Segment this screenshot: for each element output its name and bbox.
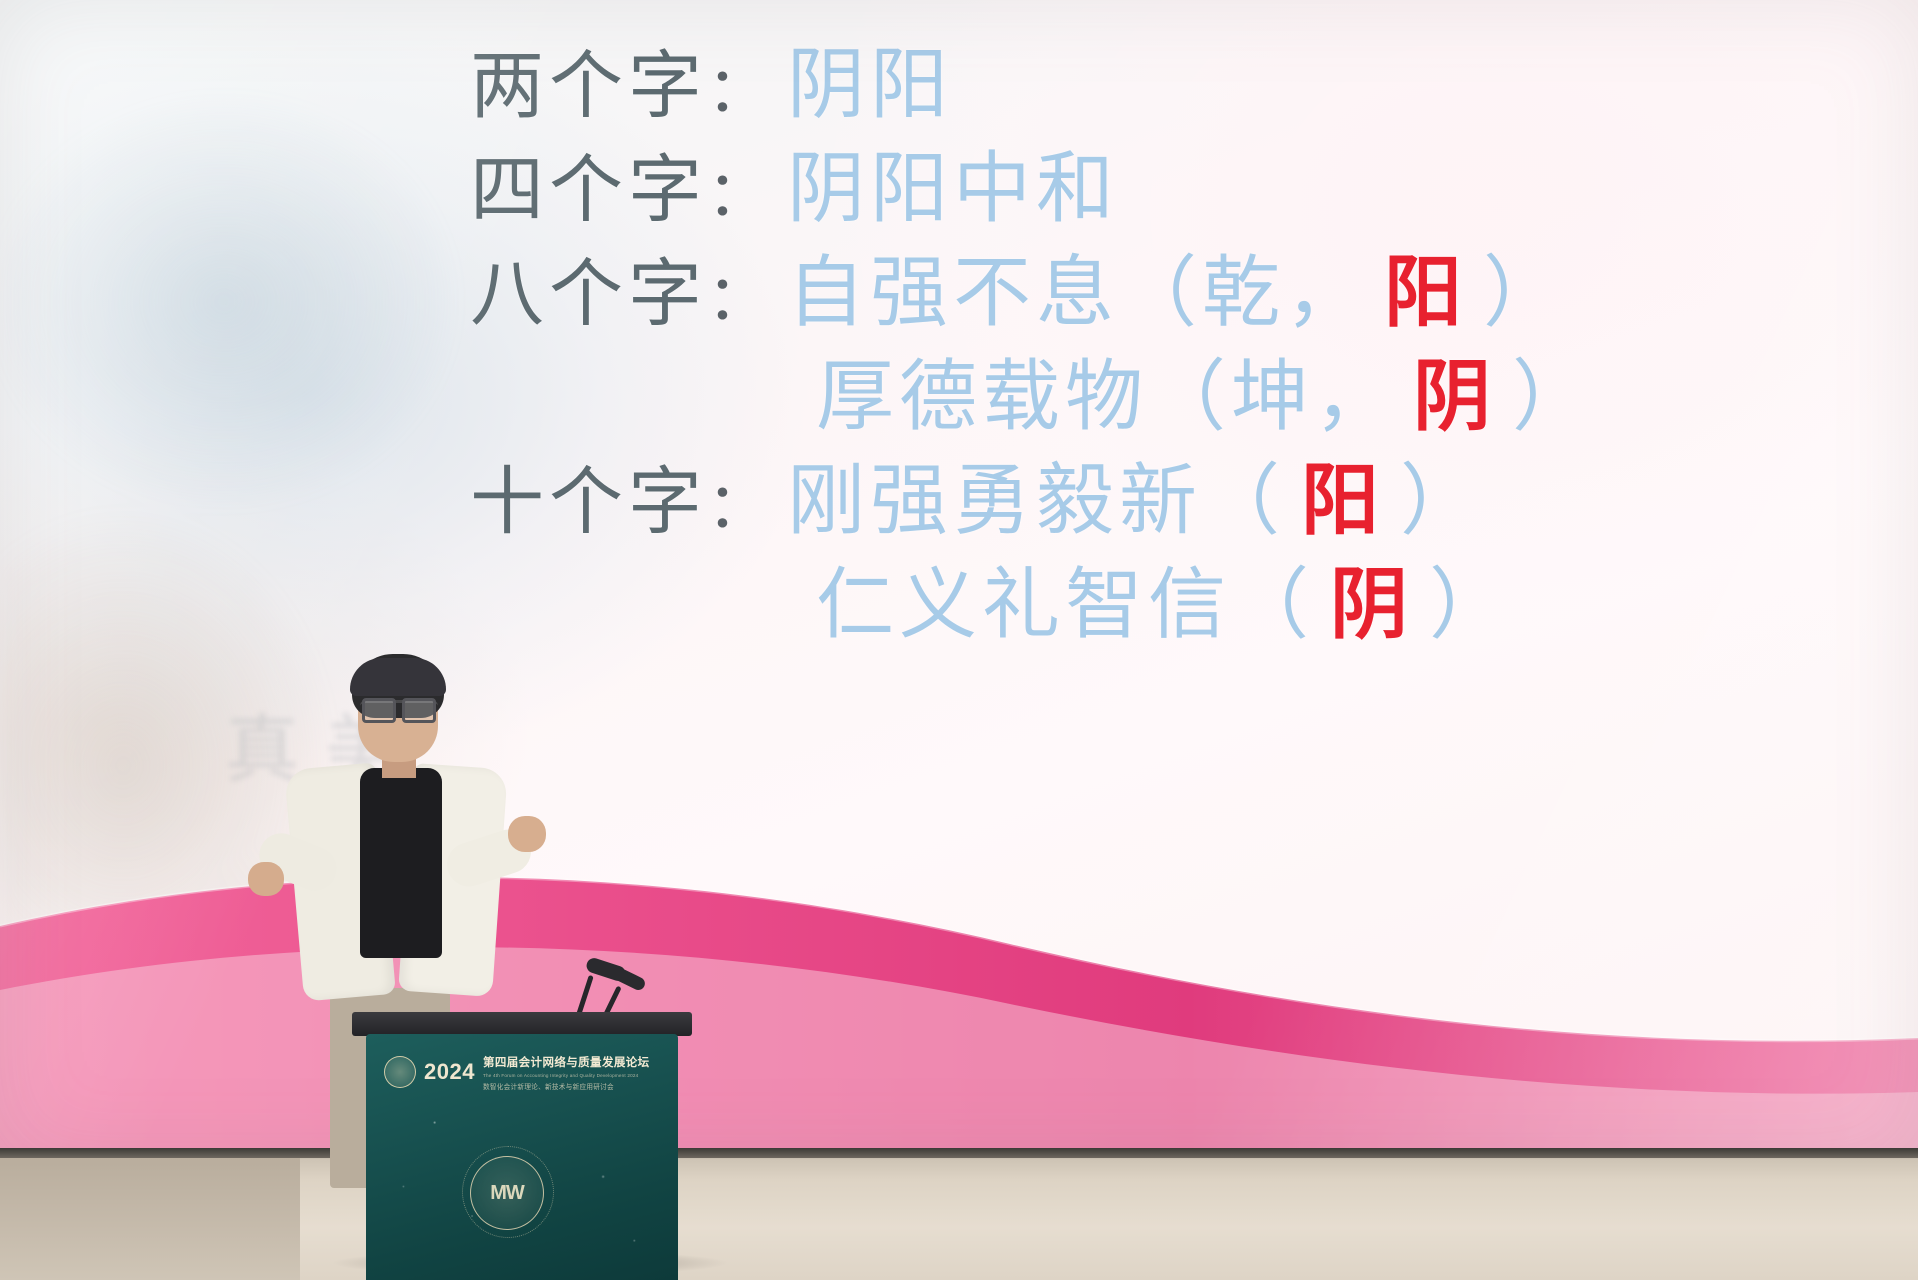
slide-line-3-value: 自强不息（乾， [787,230,1368,342]
glasses-lens-right-icon [402,698,436,723]
slide-line-2-colon: ： [707,143,769,233]
presenter-hand-left [248,862,284,896]
slide-line-2-label: 四个字 [470,130,707,237]
slide-line-3-label: 八个字 [470,234,707,341]
conference-photo-scene: 真美 两个字 ： 阴阳 四个字 ： 阴阳中和 八个字 ： 自强不息（乾， 阳 ） [0,0,1918,1280]
podium-year: 2024 [424,1059,475,1085]
podium-top-surface [352,1012,692,1036]
slide-text-block: 两个字 ： 阴阳 四个字 ： 阴阳中和 八个字 ： 自强不息（乾， 阳 ） 厚德… [470,22,1800,646]
slide-line-6-tail: ） [1429,542,1512,654]
podium-text-column: 第四届会计网络与质量发展论坛 The 4th Forum on Accounti… [483,1054,650,1091]
podium-subtitle-cn: 数智化会计新理论、新技术与新应用研讨会 [483,1081,650,1091]
slide-line-2: 四个字 ： 阴阳中和 [470,126,1800,230]
slide-line-4-highlight: 阴 [1413,334,1496,446]
slide-line-2-value: 阴阳中和 [787,126,1119,238]
slide-line-5-value: 刚强勇毅新（ [787,438,1285,550]
podium-seal-text: MW [490,1182,524,1205]
glasses-lens-left-icon [362,698,396,723]
podium-banner: 2024 第四届会计网络与质量发展论坛 The 4th Forum on Acc… [384,1044,670,1100]
slide-line-5-colon: ： [707,455,769,545]
university-emblem-icon [384,1056,416,1088]
podium: 2024 第四届会计网络与质量发展论坛 The 4th Forum on Acc… [352,1012,692,1280]
podium-title-cn: 第四届会计网络与质量发展论坛 [483,1054,650,1070]
stage-floor-left [0,1158,300,1280]
slide-line-1: 两个字 ： 阴阳 [470,22,1800,126]
slide-line-5-tail: ） [1400,438,1483,550]
slide-line-3-tail: ） [1483,230,1566,342]
slide-line-3-highlight: 阳 [1384,230,1467,342]
presenter-shirt [360,768,442,958]
slide-line-4: 厚德载物（坤， 阴 ） [470,334,1800,438]
slide-line-6: 仁义礼智信（ 阴 ） [470,542,1800,646]
slide-line-4-value: 厚德载物（坤， [816,334,1397,446]
slide-line-4-tail: ） [1512,334,1595,446]
slide-line-3: 八个字 ： 自强不息（乾， 阳 ） [470,230,1800,334]
slide-line-1-label: 两个字 [470,26,707,133]
presenter-hand-right [508,816,546,852]
slide-line-1-value: 阴阳 [787,22,953,134]
slide-line-3-colon: ： [707,247,769,337]
presenter-hair-front [350,658,446,696]
slide-line-5-highlight: 阳 [1301,438,1384,550]
slide-line-6-highlight: 阴 [1330,542,1413,654]
podium-title-en: The 4th Forum on Accounting Integrity an… [483,1073,650,1078]
slide-line-5: 十个字 ： 刚强勇毅新（ 阳 ） [470,438,1800,542]
podium-front-panel: 2024 第四届会计网络与质量发展论坛 The 4th Forum on Acc… [366,1034,678,1280]
podium-seal: MW [470,1156,544,1230]
slide-line-6-value: 仁义礼智信（ [816,542,1314,654]
slide-line-1-colon: ： [707,39,769,129]
slide-line-5-label: 十个字 [470,442,707,549]
